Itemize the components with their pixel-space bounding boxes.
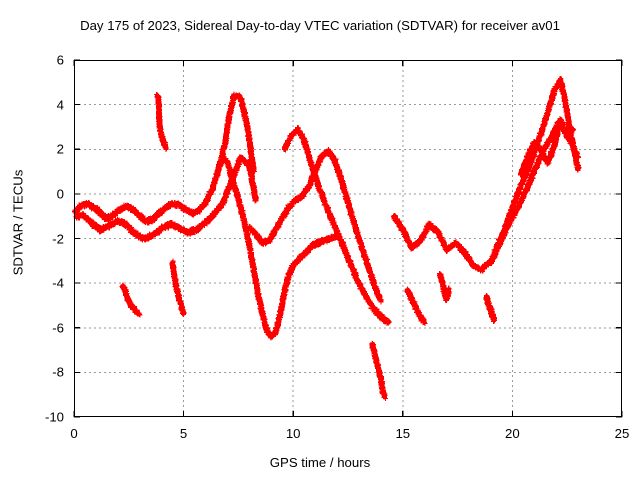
y-tick-label: -10 xyxy=(0,410,64,425)
y-tick-label: -2 xyxy=(0,231,64,246)
y-tick-label: -4 xyxy=(0,276,64,291)
y-tick-label: -8 xyxy=(0,365,64,380)
y-tick-label: 4 xyxy=(0,97,64,112)
figure-container: Day 175 of 2023, Sidereal Day-to-day VTE… xyxy=(0,0,640,480)
y-tick-label: 2 xyxy=(0,142,64,157)
y-tick-label: -6 xyxy=(0,320,64,335)
x-tick-label: 15 xyxy=(395,426,410,441)
y-tick-label: 6 xyxy=(0,53,64,68)
plot-canvas xyxy=(0,0,640,480)
data-points xyxy=(72,76,581,401)
x-tick-label: 5 xyxy=(180,426,187,441)
x-tick-label: 0 xyxy=(70,426,77,441)
x-tick-label: 10 xyxy=(286,426,301,441)
x-tick-label: 20 xyxy=(505,426,520,441)
x-tick-label: 25 xyxy=(615,426,630,441)
y-tick-label: 0 xyxy=(0,186,64,201)
